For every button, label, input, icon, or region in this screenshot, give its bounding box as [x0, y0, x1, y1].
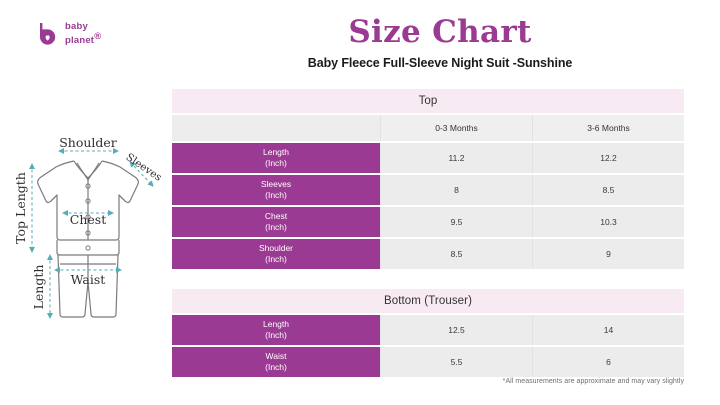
- table-row: Length (Inch) 11.2 12.2: [172, 143, 684, 173]
- baby-planet-b-heart-icon: [38, 22, 60, 46]
- column-header-size2: 3-6 Months: [532, 115, 684, 141]
- cell-size1: 5.5: [380, 347, 532, 377]
- column-header-size1: 0-3 Months: [380, 115, 532, 141]
- cell-size2: 12.2: [532, 143, 684, 173]
- row-label-name: Chest: [265, 211, 287, 222]
- row-label-name: Length: [263, 147, 289, 158]
- row-label-name: Shoulder: [259, 243, 293, 254]
- row-label: Length (Inch): [172, 143, 380, 173]
- page-subtitle: Baby Fleece Full-Sleeve Night Suit -Suns…: [180, 56, 700, 70]
- table-row: Length (Inch) 12.5 14: [172, 315, 684, 345]
- page-title: Size Chart: [180, 14, 700, 50]
- label-chest: Chest: [70, 212, 106, 227]
- row-label: Length (Inch): [172, 315, 380, 345]
- row-label: Chest (Inch): [172, 207, 380, 237]
- label-shoulder: Shoulder: [59, 135, 117, 150]
- section-title-top: Top: [172, 89, 684, 113]
- size-table-bottom: Bottom (Trouser) Length (Inch) 12.5 14 W…: [172, 289, 684, 377]
- label-top-length: Top Length: [13, 172, 28, 244]
- label-length: Length: [31, 265, 46, 310]
- row-label-unit: (Inch): [265, 254, 287, 265]
- table-row: Sleeves (Inch) 8 8.5: [172, 175, 684, 205]
- row-label-name: Waist: [266, 351, 287, 362]
- brand-name-line2: planet®: [65, 32, 101, 46]
- corner-cell: [172, 115, 380, 141]
- row-label: Waist (Inch): [172, 347, 380, 377]
- cell-size1: 11.2: [380, 143, 532, 173]
- cell-size2: 14: [532, 315, 684, 345]
- cell-size2: 10.3: [532, 207, 684, 237]
- section-title-bottom: Bottom (Trouser): [172, 289, 684, 313]
- row-label: Shoulder (Inch): [172, 239, 380, 269]
- cell-size1: 12.5: [380, 315, 532, 345]
- cell-size2: 8.5: [532, 175, 684, 205]
- label-waist: Waist: [71, 272, 106, 287]
- row-label-unit: (Inch): [265, 222, 287, 233]
- brand-logo: baby planet®: [38, 22, 101, 46]
- cell-size2: 6: [532, 347, 684, 377]
- footnote: *All measurements are approximate and ma…: [172, 378, 684, 385]
- label-sleeves: Sleeves: [124, 151, 164, 184]
- trademark-symbol: ®: [94, 31, 101, 42]
- row-label-unit: (Inch): [265, 190, 287, 201]
- garment-measurement-diagram: Shoulder Sleeves Chest Top Length Length…: [8, 122, 180, 374]
- size-table-top: Top 0-3 Months 3-6 Months Length (Inch) …: [172, 89, 684, 269]
- row-label-unit: (Inch): [265, 158, 287, 169]
- cell-size1: 8.5: [380, 239, 532, 269]
- row-label-name: Sleeves: [261, 179, 291, 190]
- row-label-unit: (Inch): [265, 362, 287, 373]
- row-label-name: Length: [263, 319, 289, 330]
- cell-size1: 8: [380, 175, 532, 205]
- cell-size2: 9: [532, 239, 684, 269]
- column-header-row: 0-3 Months 3-6 Months: [172, 115, 684, 141]
- table-row: Waist (Inch) 5.5 6: [172, 347, 684, 377]
- row-label: Sleeves (Inch): [172, 175, 380, 205]
- table-row: Shoulder (Inch) 8.5 9: [172, 239, 684, 269]
- table-row: Chest (Inch) 9.5 10.3: [172, 207, 684, 237]
- cell-size1: 9.5: [380, 207, 532, 237]
- row-label-unit: (Inch): [265, 330, 287, 341]
